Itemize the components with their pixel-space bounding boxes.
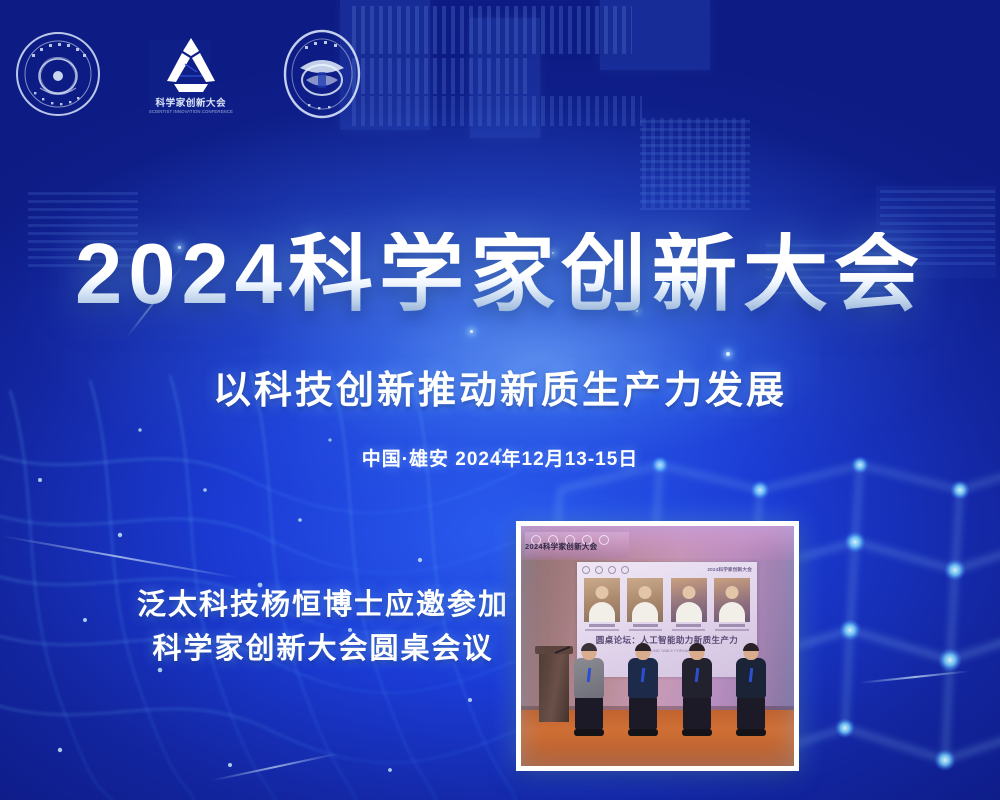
caption-line-1: 泛太科技杨恒博士应邀参加	[128, 584, 518, 628]
conference-poster: 科学家创新大会 SCIENTIST INNOVATION CONFERENCE	[0, 0, 1000, 800]
portrait-role-bar	[672, 629, 705, 631]
event-photo: 2024科学家创新大会 2024科学家创新大会	[521, 526, 794, 766]
panelist-shoes	[736, 729, 766, 736]
portrait-photo	[714, 578, 750, 622]
caption-line-2: 科学家创新大会圆桌会议	[128, 628, 518, 672]
panelist-seated	[677, 644, 717, 740]
main-title: 2024科学家创新大会	[0, 232, 1000, 317]
screen-title: 2024科学家创新大会	[707, 567, 752, 573]
panelist-legs	[737, 696, 765, 730]
center-triangle-logo: 科学家创新大会 SCIENTIST INNOVATION CONFERENCE	[148, 34, 234, 114]
panelist-shoes	[574, 729, 604, 736]
portrait-photo	[627, 578, 663, 622]
portrait-card	[671, 578, 707, 631]
panelist-seated	[731, 644, 771, 740]
panelist-legs	[683, 696, 711, 730]
banner-icon-5	[599, 535, 609, 545]
logo-wordmark: 科学家创新大会	[156, 99, 227, 109]
sponsor-icon-2	[595, 566, 603, 574]
panelist-shoes	[682, 729, 712, 736]
portrait-name-bar	[676, 624, 701, 627]
panelist-legs	[575, 696, 603, 730]
panelist-hair	[689, 643, 705, 651]
panelist-seated	[623, 644, 663, 740]
photo-podium	[539, 650, 569, 722]
sponsor-icon-4	[621, 566, 629, 574]
caption-block: 泛太科技杨恒博士应邀参加 科学家创新大会圆桌会议	[128, 584, 518, 671]
portrait-role-bar	[629, 629, 662, 631]
left-circular-seal-icon	[14, 30, 102, 118]
portrait-name-bar	[633, 624, 658, 627]
sponsor-icon-3	[608, 566, 616, 574]
portrait-card	[627, 578, 663, 631]
date-location-line: 中国·雄安 2024年12月13-15日	[0, 444, 1000, 471]
panelist-hair	[581, 643, 597, 651]
event-photo-frame: 2024科学家创新大会 2024科学家创新大会	[516, 521, 799, 771]
panelist-hair	[635, 643, 651, 651]
sponsor-icon-1	[582, 566, 590, 574]
screen-portrait-row	[584, 578, 750, 631]
screen-sponsor-icons	[582, 566, 629, 574]
panelist-hair	[743, 643, 759, 651]
logo-wordmark-sub: SCIENTIST INNOVATION CONFERENCE	[149, 109, 233, 114]
screen-header: 2024科学家创新大会	[582, 566, 752, 574]
portrait-card	[584, 578, 620, 631]
portrait-name-bar	[589, 624, 614, 627]
panelist-seated	[569, 644, 609, 740]
logo-bar: 科学家创新大会 SCIENTIST INNOVATION CONFERENCE	[14, 28, 364, 120]
portrait-card	[714, 578, 750, 631]
title-block: 2024科学家创新大会 以科技创新推动新质生产力发展 中国·雄安 2024年12…	[0, 232, 1000, 471]
right-oval-seal-icon	[280, 28, 364, 120]
portrait-role-bar	[585, 629, 618, 631]
portrait-photo	[671, 578, 707, 622]
panelist-shoes	[628, 729, 658, 736]
sub-title: 以科技创新推动新质生产力发展	[0, 359, 1000, 414]
portrait-name-bar	[719, 624, 744, 627]
triangle-knot-icon	[158, 34, 224, 96]
photo-banner-text: 2024科学家创新大会	[525, 541, 597, 552]
portrait-role-bar	[715, 629, 748, 631]
panelist-legs	[629, 696, 657, 730]
portrait-photo	[584, 578, 620, 622]
